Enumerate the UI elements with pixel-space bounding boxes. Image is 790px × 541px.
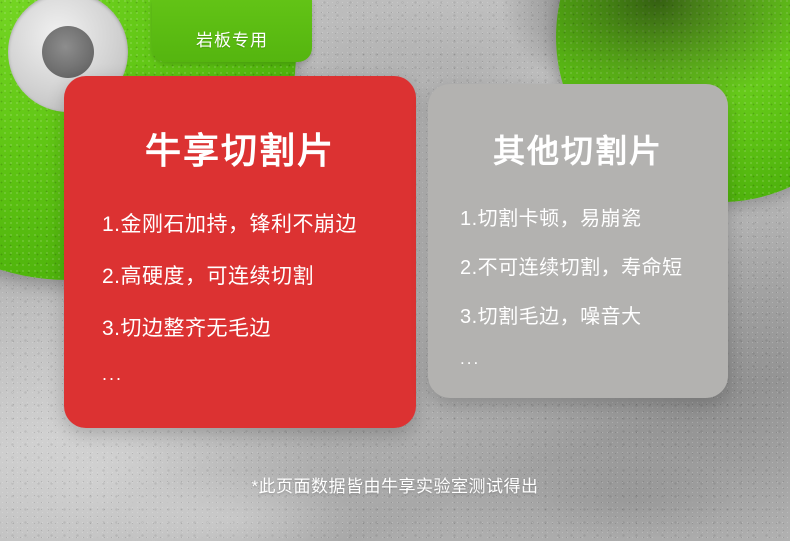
list-item: 1.金刚石加持，锋利不崩边 <box>102 208 416 238</box>
footnote-disclaimer: *此页面数据皆由牛享实验室测试得出 <box>0 472 790 497</box>
comparison-card-ours: 牛享切割片 1.金刚石加持，锋利不崩边 2.高硬度，可连续切割 3.切边整齐无毛… <box>64 76 416 428</box>
disc-center-hole <box>42 26 94 78</box>
product-badge: 岩板专用 <box>152 0 312 62</box>
card-ellipsis-ours: ... <box>102 364 416 385</box>
list-item: 2.高硬度，可连续切割 <box>102 260 416 290</box>
list-item: 1.切割卡顿，易崩瓷 <box>460 202 728 231</box>
list-item: 3.切边整齐无毛边 <box>102 312 416 342</box>
card-ellipsis-others: ... <box>460 349 728 369</box>
card-feature-list-ours: 1.金刚石加持，锋利不崩边 2.高硬度，可连续切割 3.切边整齐无毛边 <box>64 208 416 342</box>
card-feature-list-others: 1.切割卡顿，易崩瓷 2.不可连续切割，寿命短 3.切割毛边，噪音大 <box>428 202 728 329</box>
list-item: 2.不可连续切割，寿命短 <box>460 251 728 280</box>
product-badge-label: 岩板专用 <box>196 26 268 51</box>
card-title-ours: 牛享切割片 <box>64 122 416 174</box>
promo-banner: 岩板专用 牛享切割片 1.金刚石加持，锋利不崩边 2.高硬度，可连续切割 3.切… <box>0 0 790 541</box>
card-title-others: 其他切割片 <box>428 126 728 172</box>
list-item: 3.切割毛边，噪音大 <box>460 300 728 329</box>
comparison-card-others: 其他切割片 1.切割卡顿，易崩瓷 2.不可连续切割，寿命短 3.切割毛边，噪音大… <box>428 84 728 398</box>
